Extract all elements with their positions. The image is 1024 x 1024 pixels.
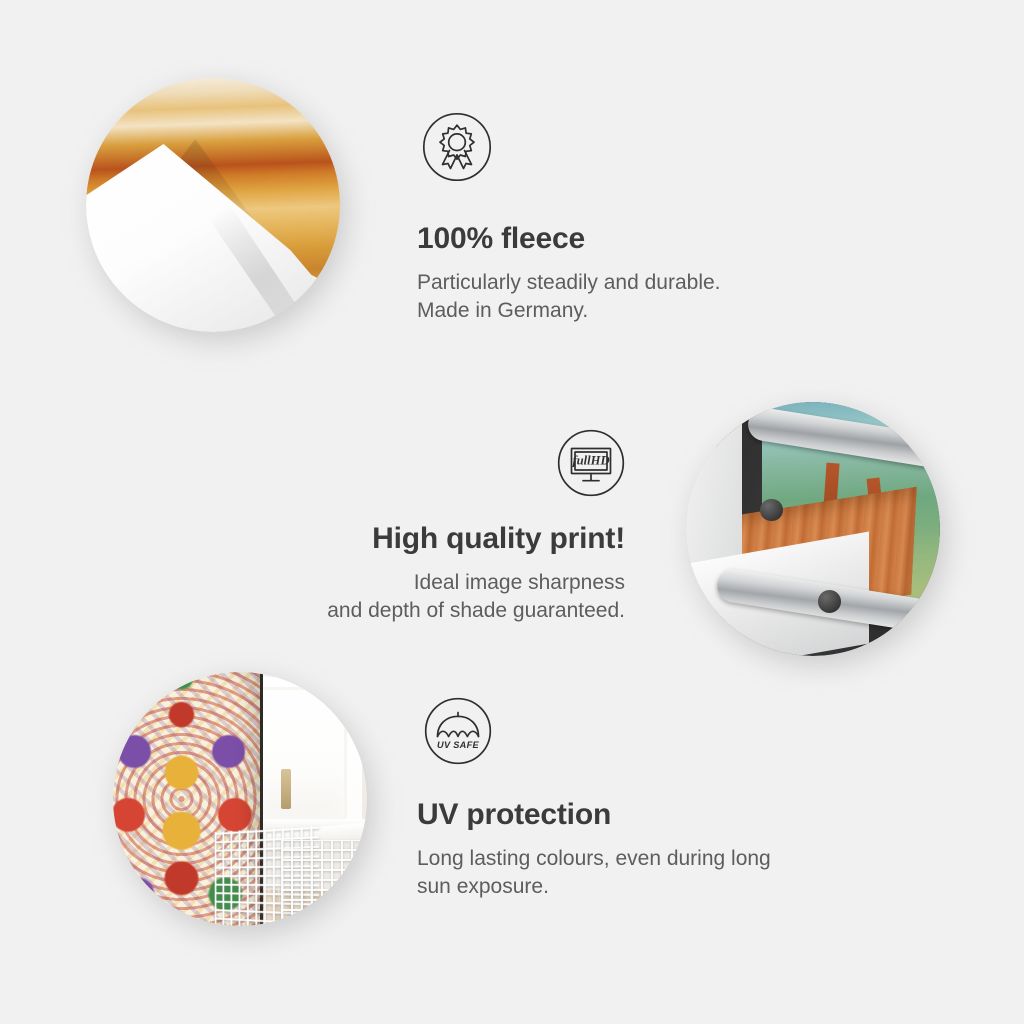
wire-chair-back xyxy=(281,840,367,926)
feature-text-uv: UV protection Long lasting colours, even… xyxy=(417,798,847,902)
feature-body-print: Ideal image sharpness and depth of shade… xyxy=(253,569,625,627)
uvsafe-icon-label: UV SAFE xyxy=(437,740,479,750)
feature-text-print: High quality print! Ideal image sharpnes… xyxy=(253,522,625,626)
peeling-fleece-wallpaper-photo xyxy=(86,78,340,332)
feature-body-line2: and depth of shade guaranteed. xyxy=(327,599,625,622)
feature-heading-fleece: 100% fleece xyxy=(417,222,837,257)
feature-body-line2: Made in Germany. xyxy=(417,299,588,322)
feature-infographic: 100% fleece Particularly steadily and du… xyxy=(0,0,1024,1024)
large-format-printer-photo xyxy=(686,402,940,656)
uv-safe-umbrella-icon: UV SAFE xyxy=(424,697,492,765)
feature-heading-print: High quality print! xyxy=(253,522,625,557)
feature-body-uv: Long lasting colours, even during long s… xyxy=(417,845,847,903)
printer-knob-upper xyxy=(760,499,783,522)
window-frame xyxy=(254,687,346,825)
feature-body-line1: Ideal image sharpness xyxy=(414,571,625,594)
printer-knob-lower xyxy=(818,590,841,613)
candlestick xyxy=(281,769,291,810)
feature-body-line1: Particularly steadily and durable. xyxy=(417,271,721,294)
mandala-mural-interior-photo xyxy=(113,672,367,926)
feature-heading-uv: UV protection xyxy=(417,798,847,833)
fullhd-icon-label: fullHD xyxy=(572,454,609,468)
feature-body-line1: Long lasting colours, even during long xyxy=(417,847,771,870)
fullhd-monitor-icon: fullHD xyxy=(557,429,625,497)
feature-body-line2: sun exposure. xyxy=(417,875,549,898)
feature-body-fleece: Particularly steadily and durable. Made … xyxy=(417,269,837,327)
feature-text-fleece: 100% fleece Particularly steadily and du… xyxy=(417,222,837,326)
award-rosette-icon xyxy=(422,112,492,182)
